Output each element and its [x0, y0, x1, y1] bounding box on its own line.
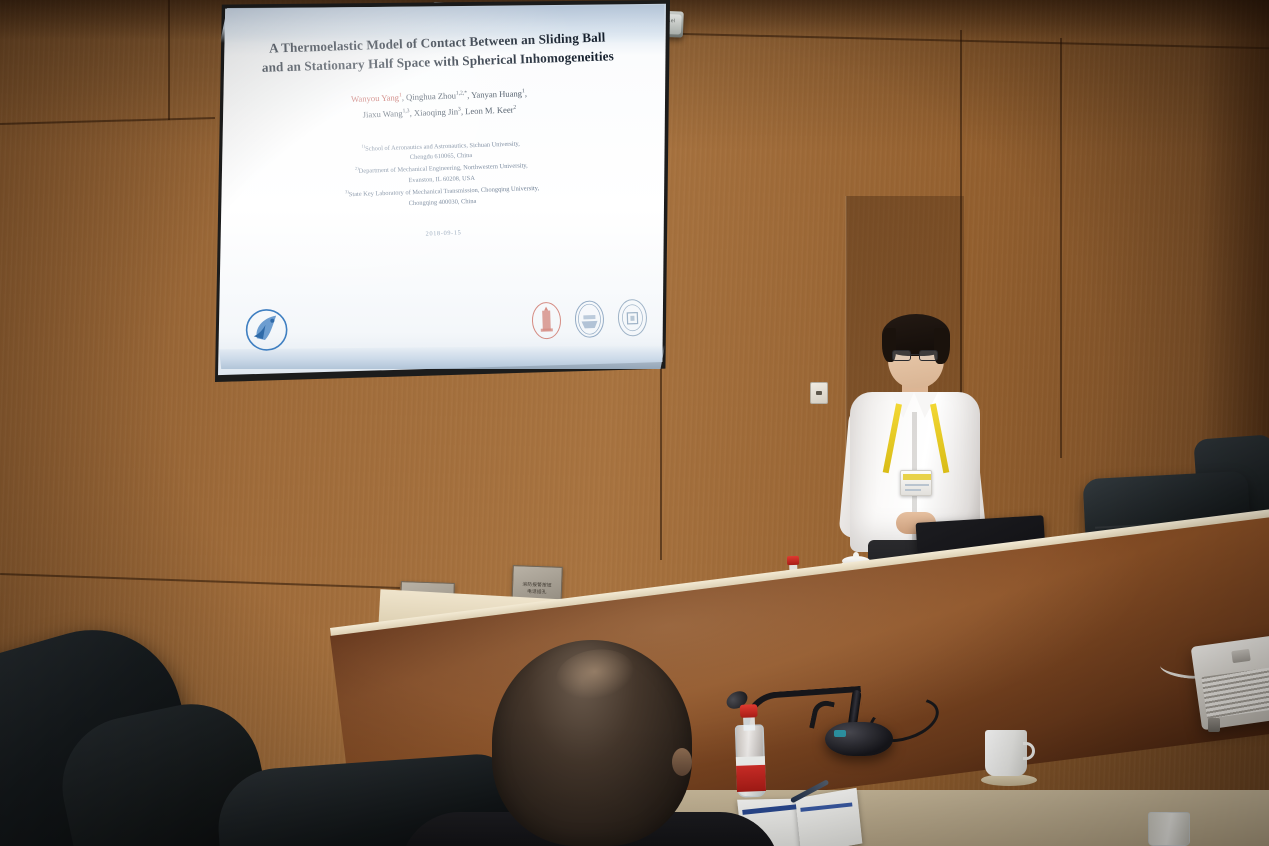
projector-vent [1201, 667, 1269, 719]
wall-plate-right-line-2: 电话插孔 [527, 589, 547, 595]
author-6-name: , Leon M. Keer [461, 104, 514, 116]
microphone-mute-button[interactable] [834, 730, 846, 737]
audience-ear [672, 748, 692, 776]
conference-badge [900, 470, 932, 496]
authors-line-1-end: , [525, 89, 527, 99]
badge-text-line [905, 489, 921, 491]
author-5-name: , Xiaoqing Jin [409, 106, 458, 118]
chongqing-university-seal-logo [571, 299, 608, 340]
slide-affiliations: 1)School of Aeronautics and Astronautics… [227, 132, 657, 215]
white-mug-on-coaster [985, 730, 1031, 780]
wall-plate-right-line-1: 消防报警按钮 [522, 582, 552, 588]
badge-text-line [905, 484, 929, 486]
gooseneck-conference-microphone[interactable] [825, 722, 893, 756]
wall-outlet [810, 382, 828, 404]
wall-seam [1060, 38, 1062, 458]
slide-content: A Thermoelastic Model of Contact Between… [223, 15, 662, 359]
glass-tumbler [1148, 812, 1190, 846]
wall-shadow-right [1199, 0, 1269, 470]
state-key-lab-seal-logo [614, 297, 651, 338]
partner-logos [528, 297, 651, 341]
scu-bird-logo [244, 307, 289, 352]
slide-date: 2018-09-15 [230, 223, 658, 244]
northwestern-seal-logo [528, 300, 565, 341]
badge-header-strip [903, 474, 931, 480]
lead-author-name: Wanyou Yang [351, 93, 399, 105]
author-6-sup: 2 [513, 104, 516, 110]
author-2-sup: 1,2,* [456, 91, 467, 97]
author-2-name: , Qinghua Zhou [402, 91, 456, 103]
projector-foot [1208, 718, 1220, 732]
conference-room-photo: Bedsel A Thermoelastic Model of Contact … [0, 0, 1269, 846]
presenter-glasses [892, 350, 940, 361]
projector-focus-knob[interactable] [1231, 649, 1250, 663]
slide-authors: Wanyou Yang1, Qinghua Zhou1,2,*, Yanyan … [225, 82, 654, 126]
author-3-name: , Yanyan Huang [467, 89, 522, 101]
author-4-name: Jiaxu Wang [362, 108, 402, 119]
